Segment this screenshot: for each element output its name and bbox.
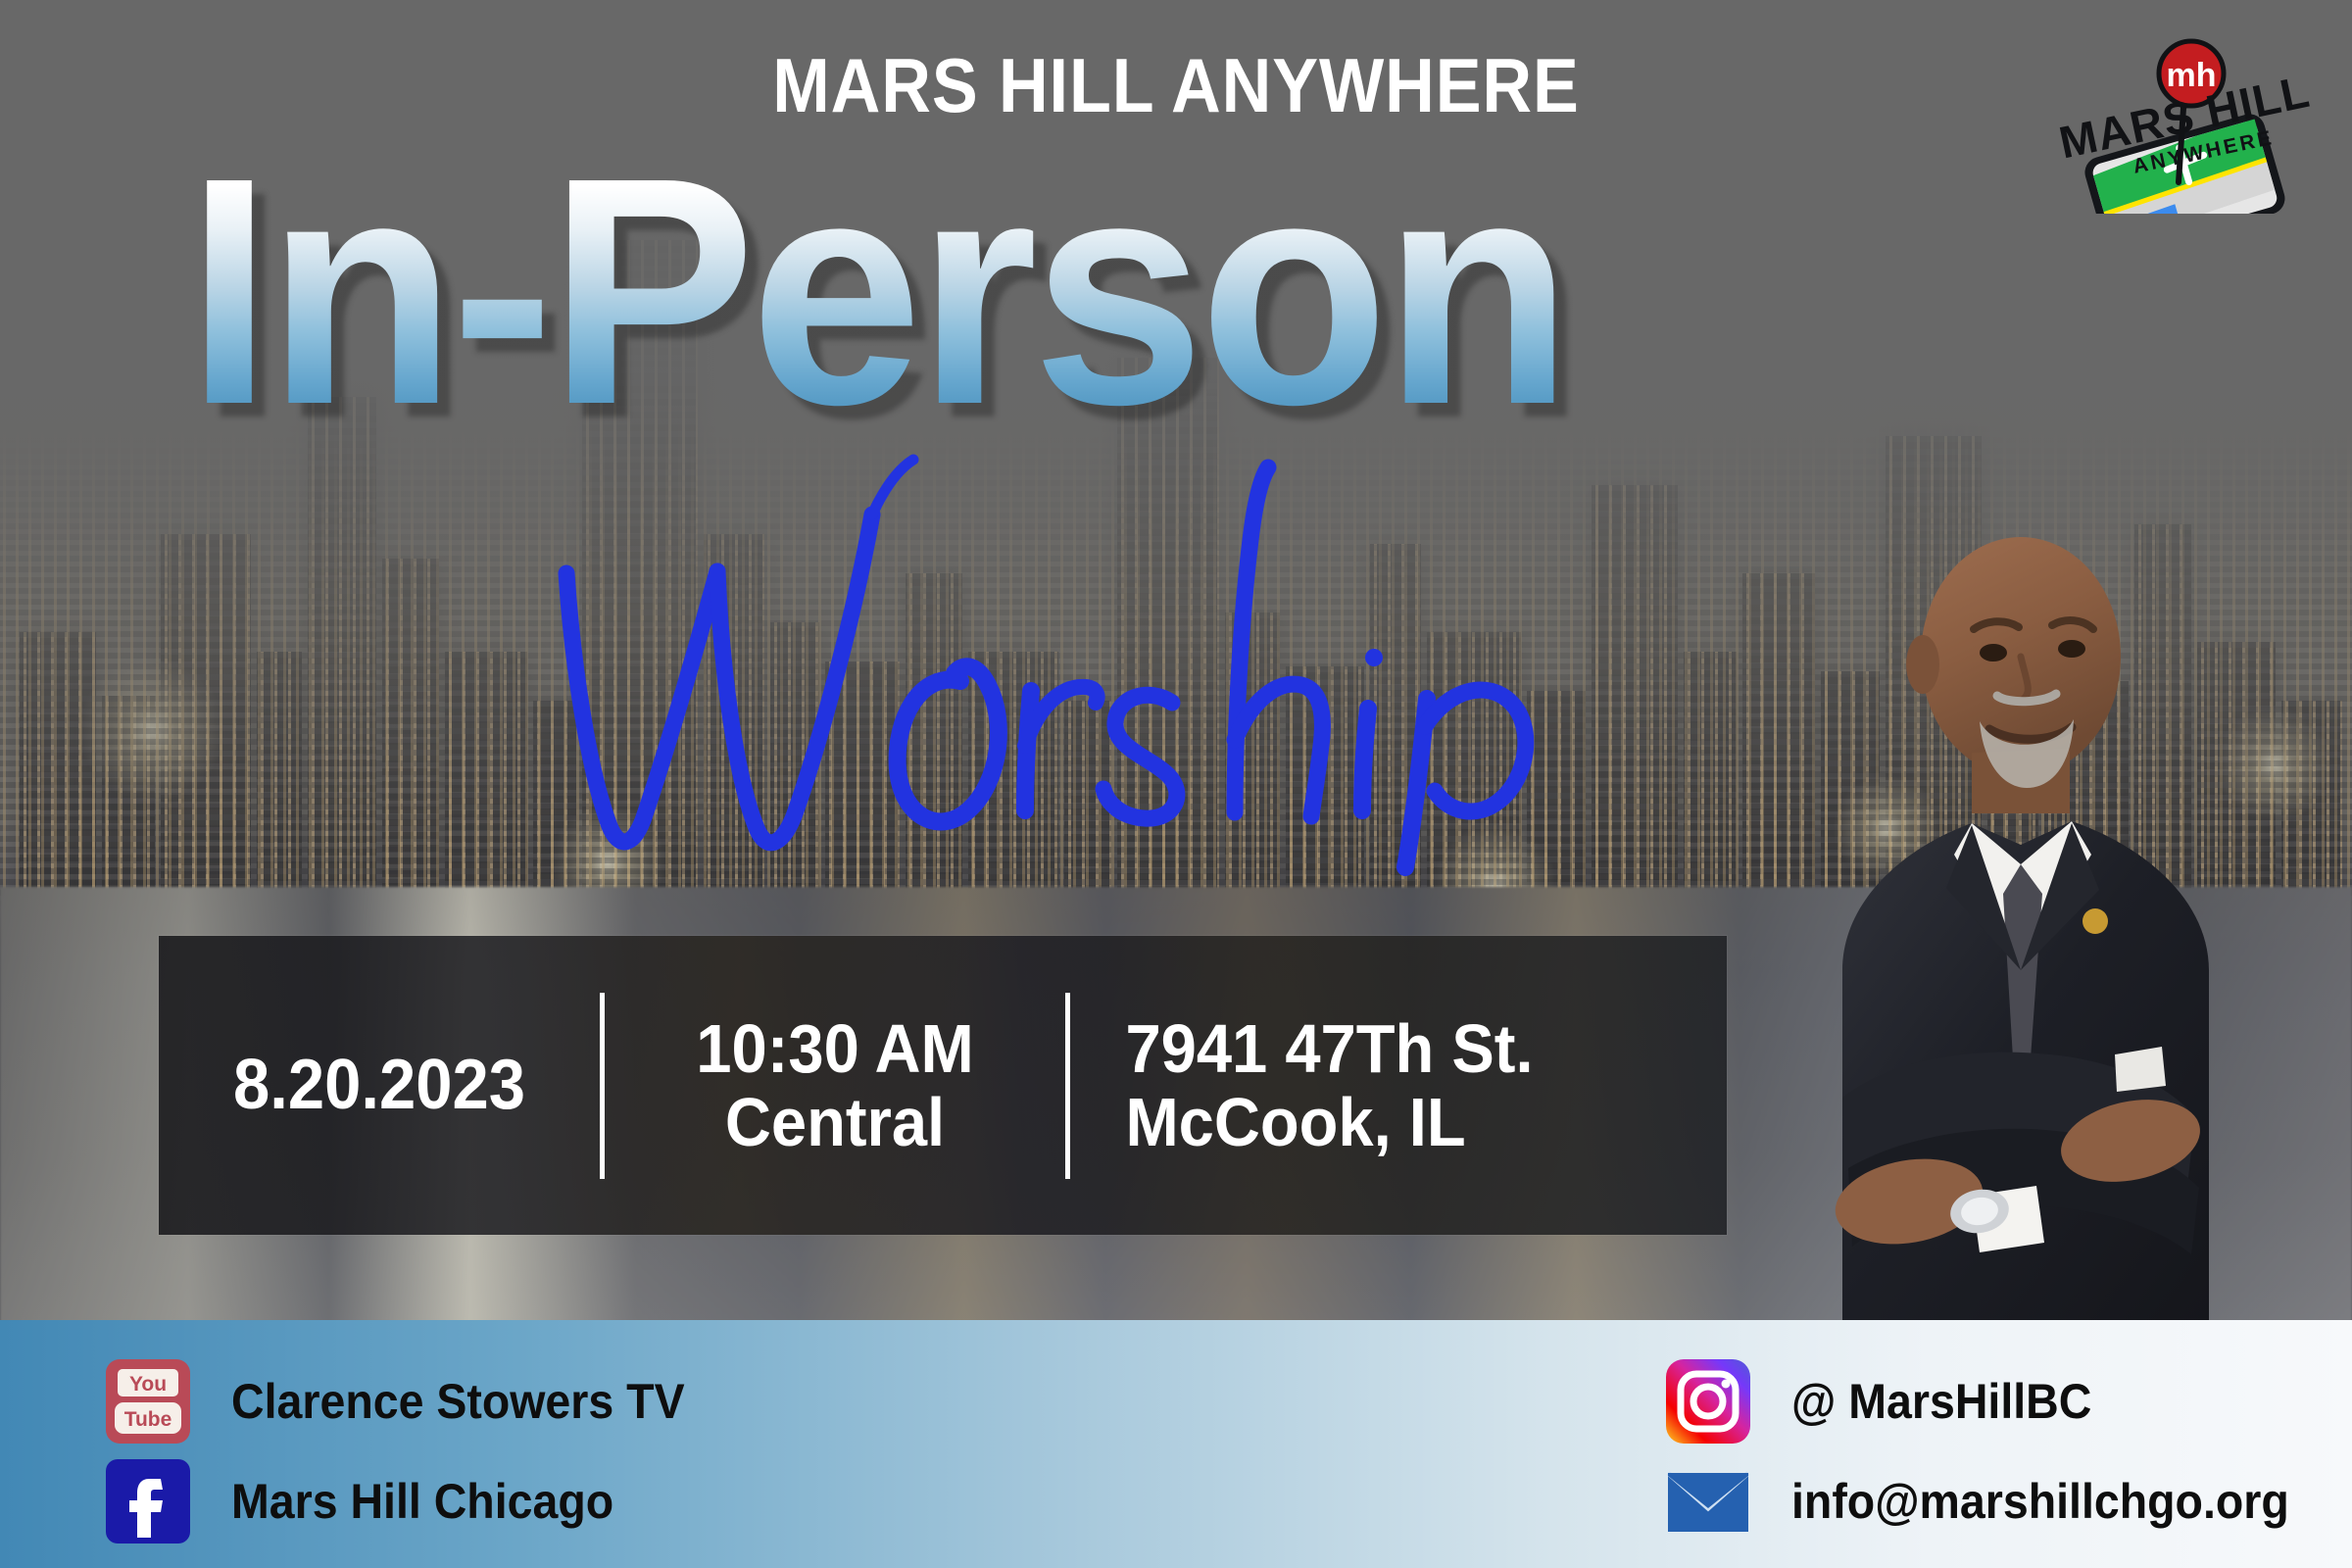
- social-label-instagram: @ MarsHillBC: [1791, 1373, 2091, 1430]
- event-time-line1: 10:30 AM: [620, 1012, 1049, 1085]
- event-date: 8.20.2023: [174, 1048, 585, 1122]
- svg-text:You: You: [129, 1373, 167, 1396]
- social-label-facebook: Mars Hill Chicago: [231, 1473, 613, 1530]
- instagram-icon[interactable]: [1666, 1359, 1750, 1444]
- event-address: 7941 47Th St. McCook, IL: [1093, 1012, 1690, 1157]
- social-item-youtube[interactable]: You Tube Clarence Stowers TV: [106, 1359, 718, 1444]
- event-address-line2: McCook, IL: [1125, 1086, 1690, 1158]
- facebook-icon[interactable]: [106, 1459, 190, 1543]
- pastor-portrait: [1727, 510, 2352, 1323]
- social-footer-bar: You Tube Clarence Stowers TV Mars Hill C…: [0, 1320, 2352, 1568]
- page-headline: In-Person: [186, 137, 1567, 445]
- svg-text:Tube: Tube: [124, 1408, 172, 1431]
- social-label-email: info@marshillchgo.org: [1791, 1473, 2289, 1530]
- youtube-icon[interactable]: You Tube: [106, 1359, 190, 1444]
- event-time: 10:30 AM Central: [620, 1012, 1049, 1157]
- poster-canvas: MARS HILL ANYWHERE mh MARS HILL ANYWHERE: [0, 0, 2352, 1568]
- event-address-line1: 7941 47Th St.: [1125, 1012, 1690, 1085]
- social-item-facebook[interactable]: Mars Hill Chicago: [106, 1459, 643, 1543]
- event-info-bar: 8.20.2023 10:30 AM Central 7941 47Th St.…: [159, 936, 1727, 1235]
- info-divider-2: [1065, 993, 1070, 1179]
- email-icon[interactable]: [1666, 1459, 1750, 1543]
- script-word-worship: [549, 446, 1588, 867]
- social-item-instagram[interactable]: @ MarsHillBC: [1666, 1359, 2114, 1444]
- social-label-youtube: Clarence Stowers TV: [231, 1373, 685, 1430]
- mars-hill-anywhere-logo: mh MARS HILL ANYWHERE: [2038, 18, 2323, 214]
- info-divider-1: [600, 993, 605, 1179]
- event-time-line2: Central: [620, 1086, 1049, 1158]
- social-item-email[interactable]: info@marshillchgo.org: [1666, 1459, 2327, 1543]
